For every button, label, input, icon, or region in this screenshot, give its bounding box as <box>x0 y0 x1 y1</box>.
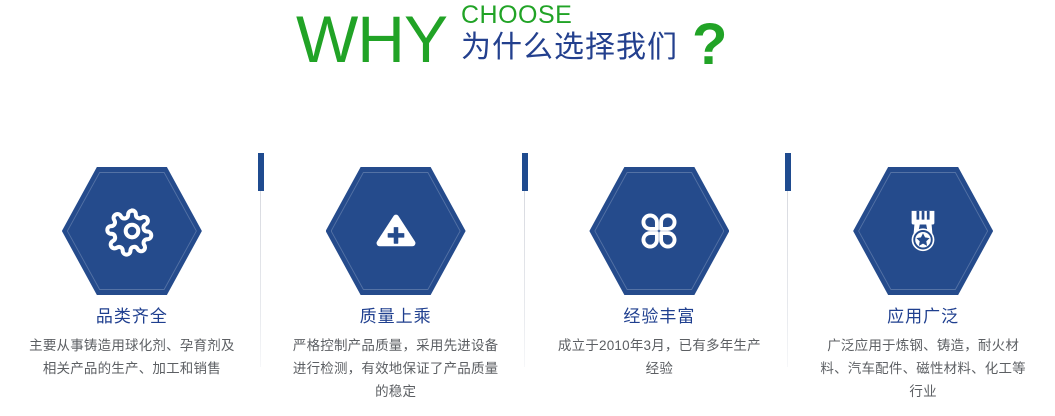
header-chinese-title: 为什么选择我们 <box>461 31 678 65</box>
hexagon-badge-1 <box>62 167 202 295</box>
feature-description: 成立于2010年3月，已有多年生产经验 <box>555 334 763 380</box>
feature-title: 应用广泛 <box>791 305 1055 329</box>
feature-column-3: 经验丰富 成立于2010年3月，已有多年生产经验 <box>528 96 792 416</box>
why-word: WHY <box>296 6 447 72</box>
feature-text-3: 经验丰富 成立于2010年3月，已有多年生产经验 <box>528 305 792 380</box>
divider-gray-segment <box>524 191 525 367</box>
header-mid-block: CHOOSE 为什么选择我们 <box>461 2 678 65</box>
feature-column-4: 应用广泛 广泛应用于炼钢、铸造，耐火材料、汽车配件、磁性材料、化工等行业 <box>791 96 1055 416</box>
header-inner: WHY CHOOSE 为什么选择我们 ? <box>296 0 727 74</box>
choose-word: CHOOSE <box>461 2 678 29</box>
why-choose-us-section: WHY CHOOSE 为什么选择我们 ? 品类齐全 主要从事铸造用球 <box>0 0 1055 416</box>
question-mark-icon: ? <box>692 16 727 74</box>
hexagon-badge-3 <box>589 167 729 295</box>
hexagon-badge-4 <box>853 167 993 295</box>
feature-column-1: 品类齐全 主要从事铸造用球化剂、孕育剂及相关产品的生产、加工和销售 <box>0 96 264 416</box>
gear-icon <box>104 203 160 259</box>
feature-text-4: 应用广泛 广泛应用于炼钢、铸造，耐火材料、汽车配件、磁性材料、化工等行业 <box>791 305 1055 403</box>
feature-description: 主要从事铸造用球化剂、孕育剂及相关产品的生产、加工和销售 <box>28 334 236 380</box>
feature-columns: 品类齐全 主要从事铸造用球化剂、孕育剂及相关产品的生产、加工和销售 <box>0 96 1055 416</box>
hexagon-badge-2 <box>326 167 466 295</box>
divider-gray-segment <box>260 191 261 367</box>
feature-text-2: 质量上乘 严格控制产品质量，采用先进设备进行检测，有效地保证了产品质量的稳定 <box>264 305 528 403</box>
feature-title: 质量上乘 <box>264 305 528 329</box>
section-header: WHY CHOOSE 为什么选择我们 ? <box>0 0 1055 96</box>
feature-description: 严格控制产品质量，采用先进设备进行检测，有效地保证了产品质量的稳定 <box>292 334 500 403</box>
feature-description: 广泛应用于炼钢、铸造，耐火材料、汽车配件、磁性材料、化工等行业 <box>819 334 1027 403</box>
feature-text-1: 品类齐全 主要从事铸造用球化剂、孕育剂及相关产品的生产、加工和销售 <box>0 305 264 380</box>
feature-column-2: 质量上乘 严格控制产品质量，采用先进设备进行检测，有效地保证了产品质量的稳定 <box>264 96 528 416</box>
triangle-plus-icon <box>368 203 424 259</box>
clover-icon <box>631 203 687 259</box>
feature-title: 经验丰富 <box>528 305 792 329</box>
feature-title: 品类齐全 <box>0 305 264 329</box>
medal-icon <box>895 203 951 259</box>
divider-gray-segment <box>787 191 788 367</box>
